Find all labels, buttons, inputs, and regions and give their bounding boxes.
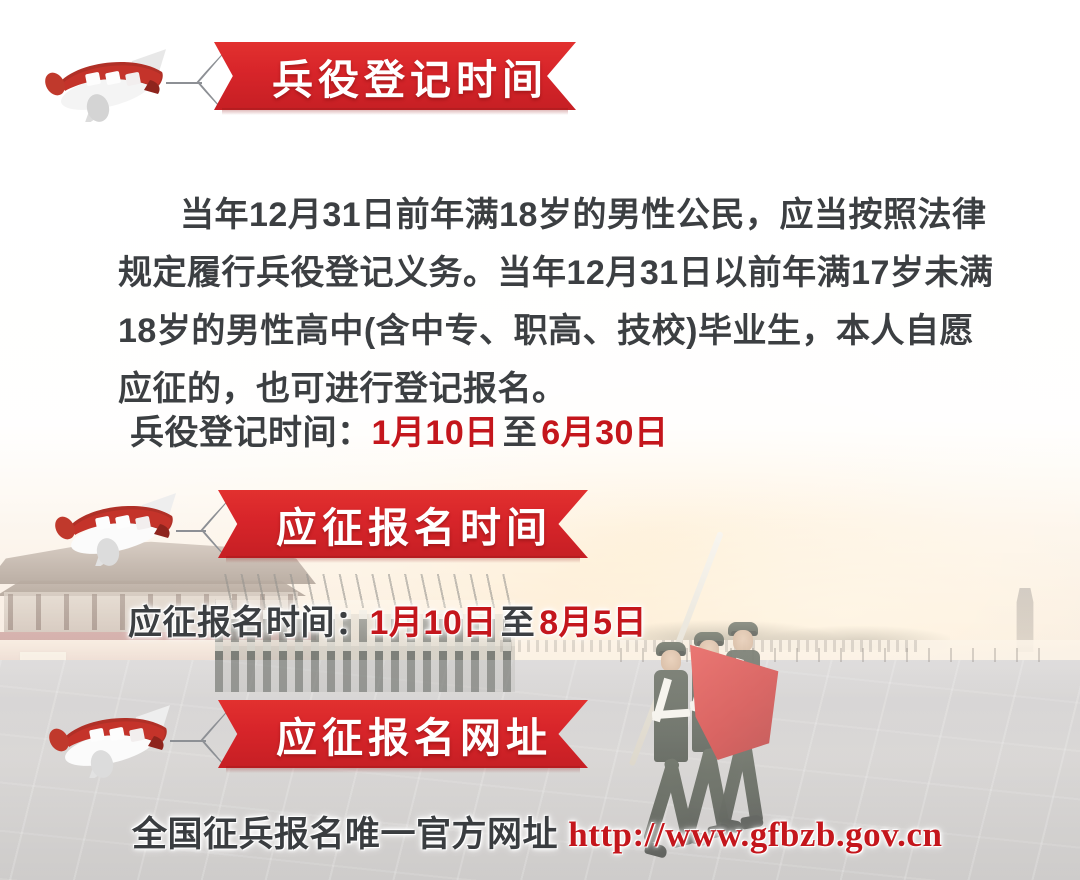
signup-time-start: 1月10日	[370, 604, 497, 642]
poster-root: 兵役登记时间 当年12月31日前年满18岁的男性公民，应当按照法律规定履行兵役登…	[0, 0, 1080, 880]
signup-url-line: 全国征兵报名唯一官方网址 http://www.gfbzb.gov.cn	[132, 806, 942, 857]
registration-time-end: 6月30日	[541, 414, 668, 452]
airplane-icon	[48, 484, 198, 566]
banner-drop-shadow	[226, 766, 580, 773]
signup-time-end: 8月5日	[539, 604, 647, 642]
registration-time-line: 兵役登记时间：1月10日至6月30日	[130, 405, 668, 454]
section-banner-signup-time: 应征报名时间	[0, 490, 600, 562]
registration-time-separator: 至	[499, 414, 542, 452]
signup-time-label: 应征报名时间：	[128, 604, 370, 642]
banner-label: 应征报名时间	[276, 494, 552, 554]
airplane-icon	[38, 40, 188, 122]
banner-ribbon: 应征报名时间	[218, 490, 588, 558]
poster-content: 兵役登记时间 当年12月31日前年满18岁的男性公民，应当按照法律规定履行兵役登…	[0, 0, 1080, 880]
section-banner-registration-time: 兵役登记时间	[0, 42, 600, 114]
signup-url-value[interactable]: http://www.gfbzb.gov.cn	[568, 815, 942, 854]
airplane-icon	[42, 696, 192, 778]
registration-time-start: 1月10日	[372, 414, 499, 452]
signup-time-line: 应征报名时间：1月10日至8月5日	[128, 595, 647, 644]
banner-ribbon: 应征报名网址	[218, 700, 588, 768]
banner-drop-shadow	[222, 108, 568, 115]
body-paragraph: 当年12月31日前年满18岁的男性公民，应当按照法律规定履行兵役登记义务。当年1…	[118, 186, 998, 418]
banner-drop-shadow	[226, 556, 580, 563]
banner-ribbon: 兵役登记时间	[214, 42, 576, 110]
banner-label: 兵役登记时间	[272, 46, 548, 106]
registration-time-label: 兵役登记时间：	[130, 414, 372, 452]
section-banner-signup-url: 应征报名网址	[0, 700, 600, 772]
signup-time-separator: 至	[497, 604, 540, 642]
banner-label: 应征报名网址	[276, 704, 552, 764]
signup-url-label: 全国征兵报名唯一官方网址	[132, 815, 558, 854]
